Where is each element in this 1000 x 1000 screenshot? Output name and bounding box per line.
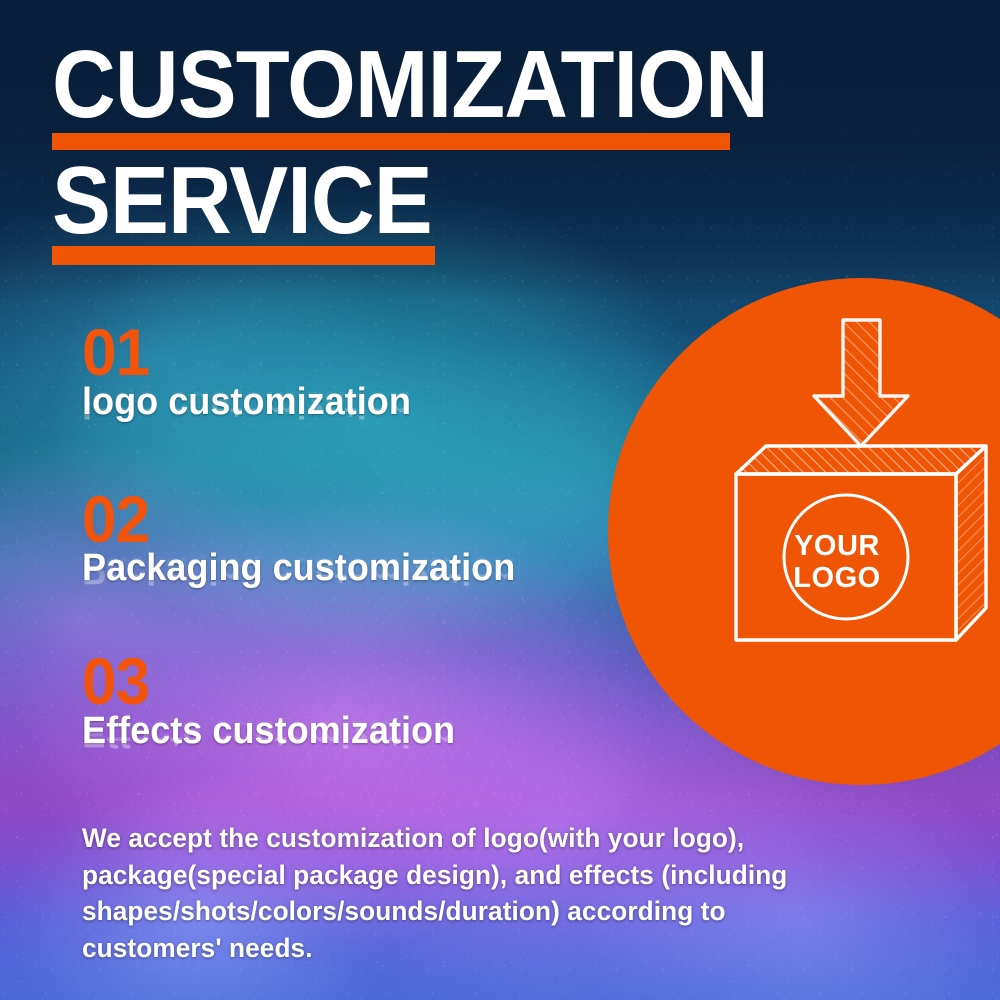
logo-line-1: YOUR [762, 530, 912, 562]
item-label: logo customization [82, 383, 614, 423]
service-list: 01 logo customization logo customization… [82, 322, 642, 756]
down-arrow-icon [814, 320, 908, 446]
list-item: 03 Effects customization Effects customi… [82, 651, 642, 756]
list-item: 02 Packaging customization Packaging cus… [82, 489, 642, 594]
item-label: Effects customization [82, 712, 614, 752]
item-label-wrap: Packaging customization Packaging custom… [82, 549, 642, 593]
your-logo-text: YOUR LOGO [762, 530, 912, 595]
page-title: CUSTOMIZATION SERVICE [52, 44, 830, 265]
list-item: 01 logo customization logo customization [82, 322, 642, 427]
title-line-1: CUSTOMIZATION [52, 44, 768, 127]
item-number: 02 [82, 489, 608, 550]
description-paragraph: We accept the customization of logo(with… [82, 820, 819, 967]
title-line-2: SERVICE [52, 160, 768, 243]
logo-line-2: LOGO [762, 562, 912, 594]
item-number: 01 [82, 322, 608, 383]
item-number: 03 [82, 651, 608, 712]
item-label-wrap: logo customization logo customization [82, 383, 642, 427]
customization-service-banner: CUSTOMIZATION SERVICE 01 logo customizat… [0, 0, 1000, 1000]
item-label-wrap: Effects customization Effects customizat… [82, 712, 642, 756]
item-label: Packaging customization [82, 549, 614, 589]
